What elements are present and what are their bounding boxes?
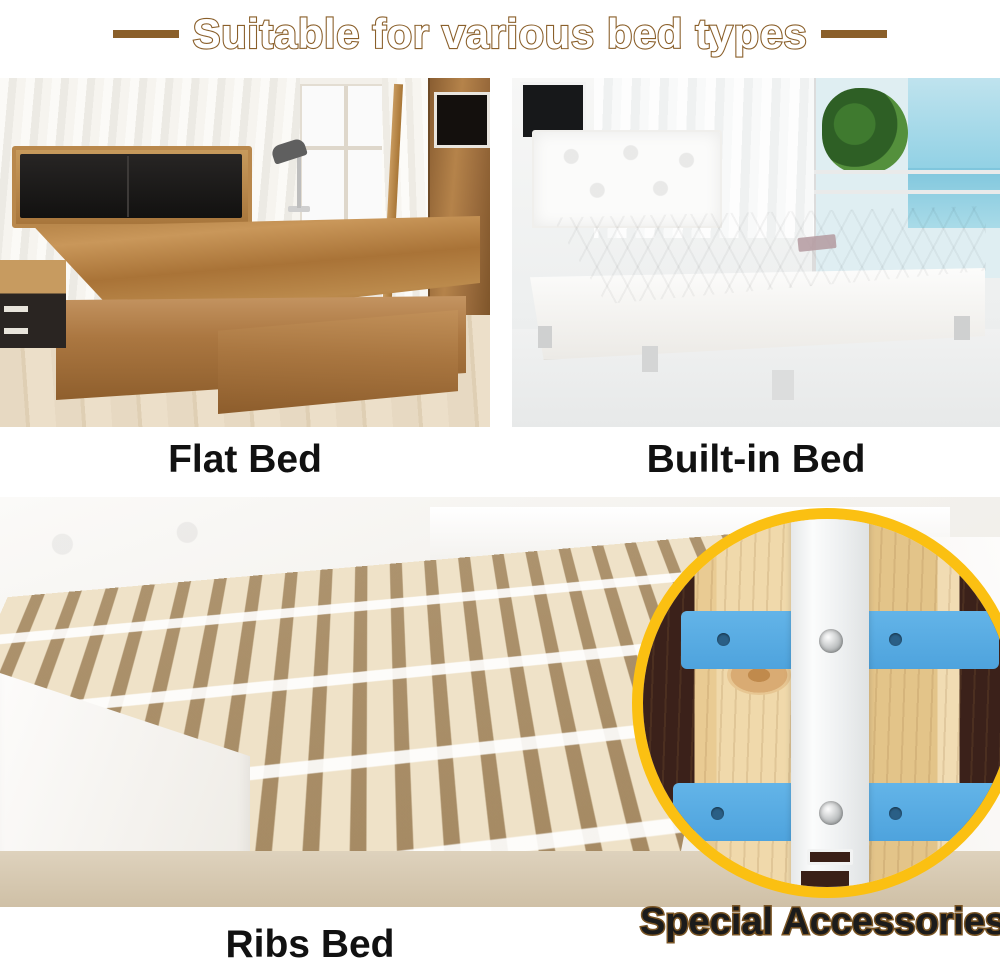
caption-special-accessories: Special Accessories [640,903,1000,941]
sky [908,78,1000,174]
chrome-leg [772,370,794,400]
drawer-handle [4,306,28,312]
tufted-headboard [532,130,722,228]
tv-screen [434,92,490,148]
screw-hole [889,807,902,820]
headboard-leather-pad [20,154,242,218]
caption-flat-bed: Flat Bed [0,440,490,479]
bolt-nut-icon [819,801,843,825]
caption-built-in-bed: Built-in Bed [512,440,1000,479]
photo-flat-bed [0,78,490,427]
chrome-leg [954,316,970,340]
white-metal-plate [791,519,869,887]
infographic-page: Suitable for various bed types Flat Bed [0,0,1000,971]
balcony-rail [812,190,1000,194]
tree [822,88,908,174]
caption-ribs-bed: Ribs Bed [30,925,590,964]
screw-hole [711,807,724,820]
drawer-handle [4,328,28,334]
balcony-rail [812,170,1000,174]
chrome-leg [538,326,552,348]
screw-hole [717,633,730,646]
title-dash-left-icon [113,30,179,38]
nightstand-left [0,260,66,348]
chrome-leg [642,346,658,372]
photo-built-in-bed [512,78,1000,427]
lamp-arm [297,156,301,208]
header-title-row: Suitable for various bed types [0,0,1000,68]
plate-tab [801,871,849,895]
screw-hole [889,633,902,646]
bolt-nut-icon [819,629,843,653]
plate-slot [807,849,853,865]
title-dash-right-icon [821,30,887,38]
accessory-closeup-circle [632,508,1000,898]
page-title: Suitable for various bed types [193,13,808,55]
